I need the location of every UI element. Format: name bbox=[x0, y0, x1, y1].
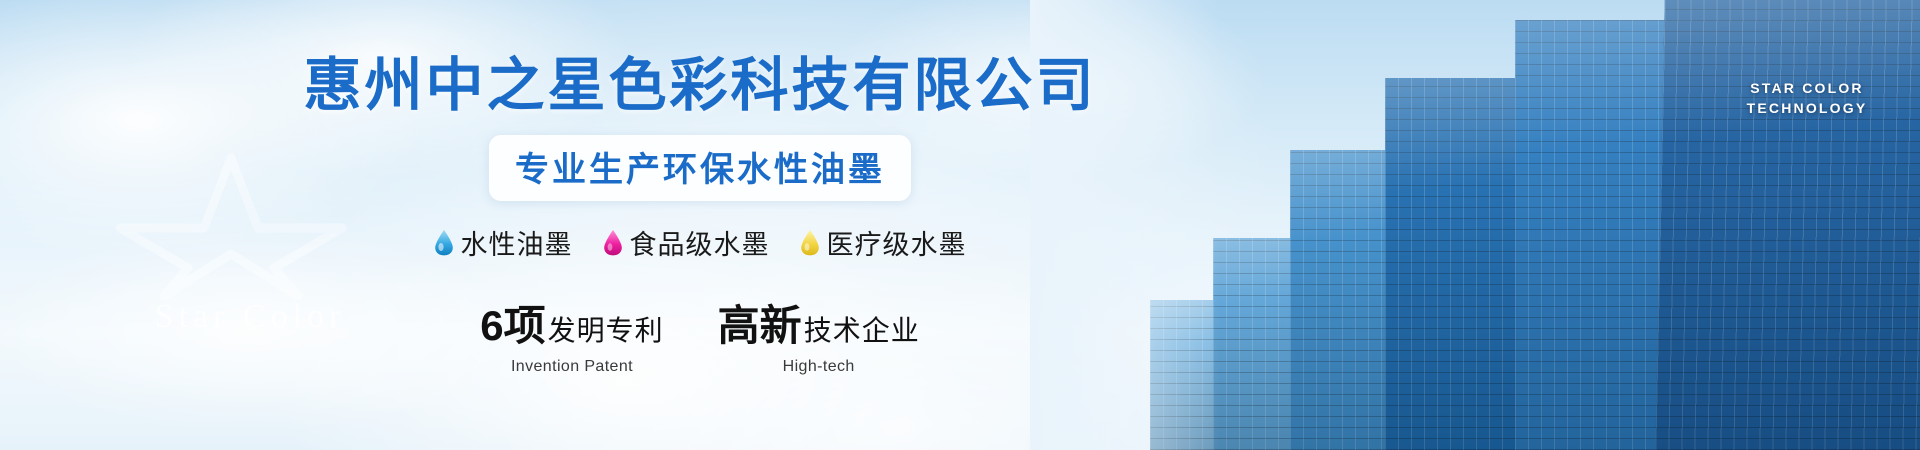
brandmark-line-1: STAR COLOR bbox=[1732, 78, 1882, 98]
badge-subtitle: Invention Patent bbox=[511, 358, 633, 376]
badge-item: 6项 发明专利 Invention Patent bbox=[480, 292, 663, 376]
feature-item: 医疗级水墨 bbox=[800, 223, 967, 262]
badge-highlight: 高新 bbox=[718, 292, 802, 353]
feature-item: 食品级水墨 bbox=[603, 223, 770, 262]
brandmark: STAR COLOR TECHNOLOGY bbox=[1732, 78, 1882, 119]
subtitle-text: 专业生产环保水性油墨 bbox=[515, 151, 885, 189]
building bbox=[1655, 0, 1920, 450]
feature-label: 食品级水墨 bbox=[630, 223, 770, 262]
badge-subtitle: High-tech bbox=[783, 358, 855, 376]
subtitle-pill: 专业生产环保水性油墨 bbox=[489, 135, 911, 201]
water-drop-icon bbox=[434, 229, 454, 256]
brandmark-line-2: TECHNOLOGY bbox=[1732, 98, 1882, 118]
badge-main: 6项 发明专利 bbox=[480, 292, 663, 353]
hero-banner: Star Color STAR COLOR TECHNOLOGY 惠州中之星色彩… bbox=[0, 0, 1920, 450]
feature-label: 医疗级水墨 bbox=[827, 223, 967, 262]
banner-content: 惠州中之星色彩科技有限公司 专业生产环保水性油墨 水性油墨 bbox=[0, 0, 1400, 450]
badge-text: 发明专利 bbox=[548, 309, 664, 349]
badge-highlight: 6项 bbox=[480, 292, 545, 353]
feature-item: 水性油墨 bbox=[434, 223, 573, 262]
badge-item: 高新 技术企业 High-tech bbox=[718, 292, 920, 376]
badge-main: 高新 技术企业 bbox=[718, 292, 920, 353]
water-drop-icon bbox=[603, 229, 623, 256]
company-title: 惠州中之星色彩科技有限公司 bbox=[303, 56, 1096, 117]
water-drop-icon bbox=[800, 229, 820, 256]
badge-text: 技术企业 bbox=[804, 309, 920, 349]
badge-list: 6项 发明专利 Invention Patent 高新 技术企业 High-te… bbox=[480, 292, 919, 376]
feature-list: 水性油墨 食品级水墨 bbox=[434, 223, 967, 262]
feature-label: 水性油墨 bbox=[461, 223, 573, 262]
